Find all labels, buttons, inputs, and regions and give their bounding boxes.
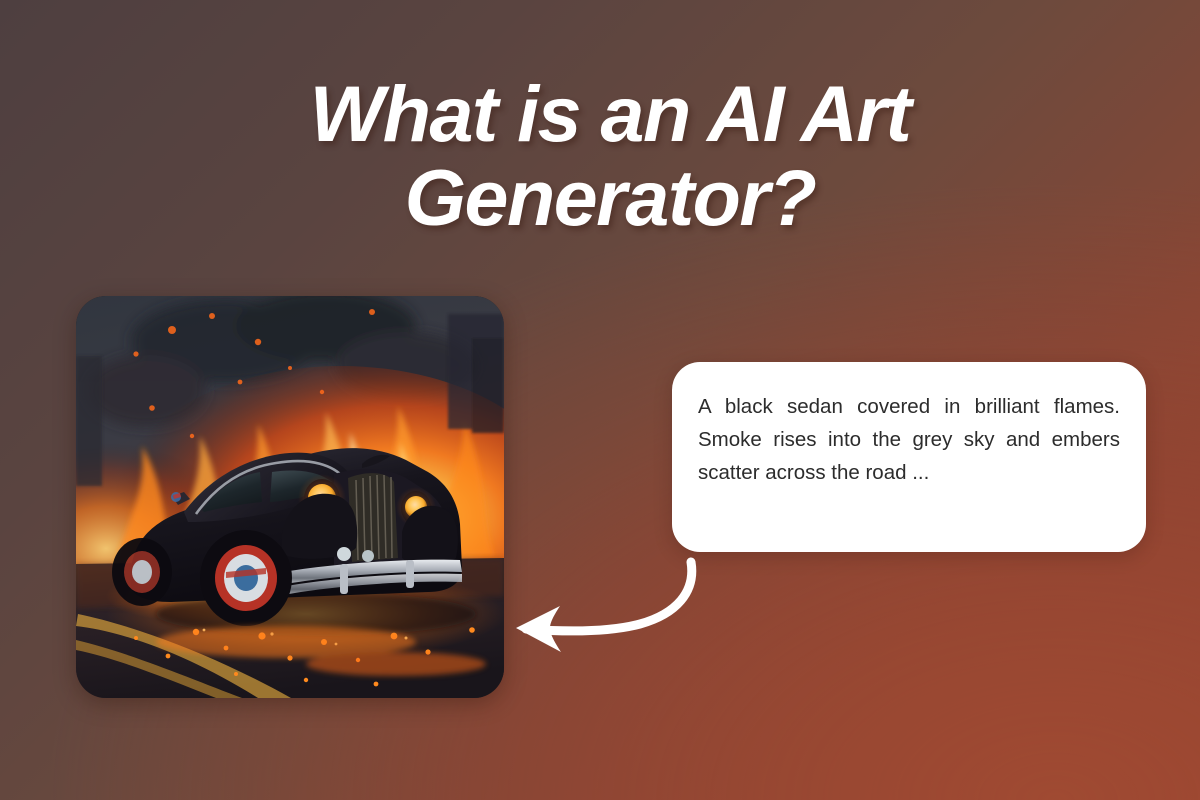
burning-car-illustration — [76, 296, 504, 698]
prompt-text: A black sedan covered in brilliant flame… — [698, 390, 1120, 489]
page-title: What is an AI Art Generator? — [0, 72, 1200, 240]
pointer-arrow — [500, 540, 740, 670]
curved-arrow-icon — [500, 540, 740, 670]
generated-art-image — [76, 296, 504, 698]
prompt-text-card: A black sedan covered in brilliant flame… — [672, 362, 1146, 552]
